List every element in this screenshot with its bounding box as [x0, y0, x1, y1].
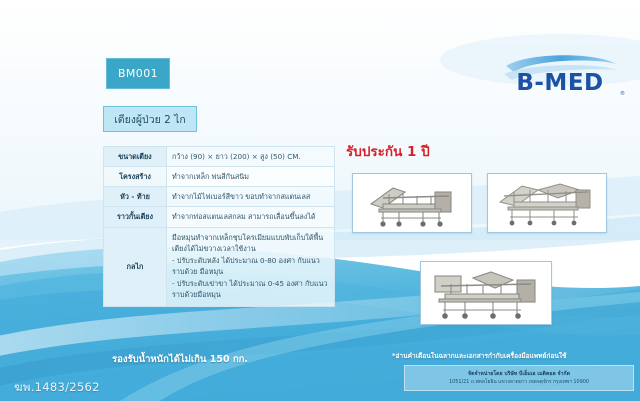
- spec-value: ทำจากเหล็ก พ่นสีกันสนิม: [167, 167, 335, 187]
- spec-label: ขนาดเตียง: [104, 147, 167, 167]
- table-row: หัว - ท้าย ทำจากไม้ไฟเบอร์สีขาว ขอบทำจาก…: [104, 187, 335, 207]
- bed-illustration-side: [353, 174, 471, 232]
- table-row: ขนาดเตียง กว้าง (90) × ยาว (200) × สูง (…: [104, 147, 335, 167]
- spec-label: ราวกั้นเตียง: [104, 207, 167, 227]
- mechanism-list: มือหมุนทำจากเหล็กชุบโครเมียมแบบพับเก็บใต…: [172, 232, 329, 301]
- spec-label: หัว - ท้าย: [104, 187, 167, 207]
- address-line: 1051/21 ถ.พหลโยธิน แขวงลาดยาว เขตจตุจักร…: [449, 379, 589, 385]
- bed-illustration-angle: [488, 174, 606, 232]
- product-code-badge: BM001: [106, 58, 170, 89]
- mechanism-line: - ปรับระดับหลัง ได้ประมาณ 0-80 องศา กับแ…: [172, 255, 329, 277]
- spec-label: โครงสร้าง: [104, 167, 167, 187]
- bmed-logo-graphic: B-MED ®: [492, 50, 628, 100]
- spec-value: ทำจากท่อสแตนเลสกลม สามารถเลื่อนขึ้นลงได้: [167, 207, 335, 227]
- address-line: จัดจำหน่ายโดย บริษัท บีเอ็มเอ เมดิคอล จำ…: [468, 371, 570, 378]
- table-row: ราวกั้นเตียง ทำจากท่อสแตนเลสกลม สามารถเล…: [104, 207, 335, 227]
- license-code: ฆพ.1483/2562: [14, 379, 100, 397]
- product-photo-1: [352, 173, 472, 233]
- svg-text:B-MED: B-MED: [516, 70, 603, 96]
- table-row: โครงสร้าง ทำจากเหล็ก พ่นสีกันสนิม: [104, 167, 335, 187]
- company-address-box: จัดจำหน่ายโดย บริษัท บีเอ็มเอ เมดิคอล จำ…: [404, 365, 634, 391]
- bed-illustration-raised: [421, 262, 551, 324]
- spec-value: กว้าง (90) × ยาว (200) × สูง (50) CM.: [167, 147, 335, 167]
- warranty-heading: รับประกัน 1 ปี: [346, 140, 430, 162]
- svg-text:®: ®: [620, 90, 625, 97]
- product-name-text: เตียงผู้ป่วย 2 ไก: [114, 111, 186, 128]
- warning-disclaimer: *อ่านคำเตือนในฉลากและเอกสารกำกับเครื่องม…: [392, 350, 640, 361]
- spec-value: ทำจากไม้ไฟเบอร์สีขาว ขอบทำจากสแตนเลส: [167, 187, 335, 207]
- product-photo-3: [420, 261, 552, 325]
- product-name-badge: เตียงผู้ป่วย 2 ไก: [103, 106, 197, 132]
- product-brochure-page: BM001 เตียงผู้ป่วย 2 ไก B-MED ® ขนาดเตีย…: [0, 0, 640, 401]
- spec-value-mechanism: มือหมุนทำจากเหล็กชุบโครเมียมแบบพับเก็บใต…: [167, 227, 335, 306]
- bmed-logo: B-MED ®: [492, 50, 628, 100]
- table-row: กลไก มือหมุนทำจากเหล็กชุบโครเมียมแบบพับเ…: [104, 227, 335, 306]
- mechanism-line: - ปรับระดับเข่าขา ได้ประมาณ 0-45 องศา กั…: [172, 278, 329, 300]
- specification-table: ขนาดเตียง กว้าง (90) × ยาว (200) × สูง (…: [103, 146, 335, 307]
- spec-label: กลไก: [104, 227, 167, 306]
- product-code-text: BM001: [118, 67, 158, 80]
- product-photo-2: [487, 173, 607, 233]
- weight-capacity-note: รองรับน้ำหนักได้ไม่เกิน 150 กก.: [0, 352, 360, 367]
- mechanism-line: มือหมุนทำจากเหล็กชุบโครเมียมแบบพับเก็บใต…: [172, 232, 329, 254]
